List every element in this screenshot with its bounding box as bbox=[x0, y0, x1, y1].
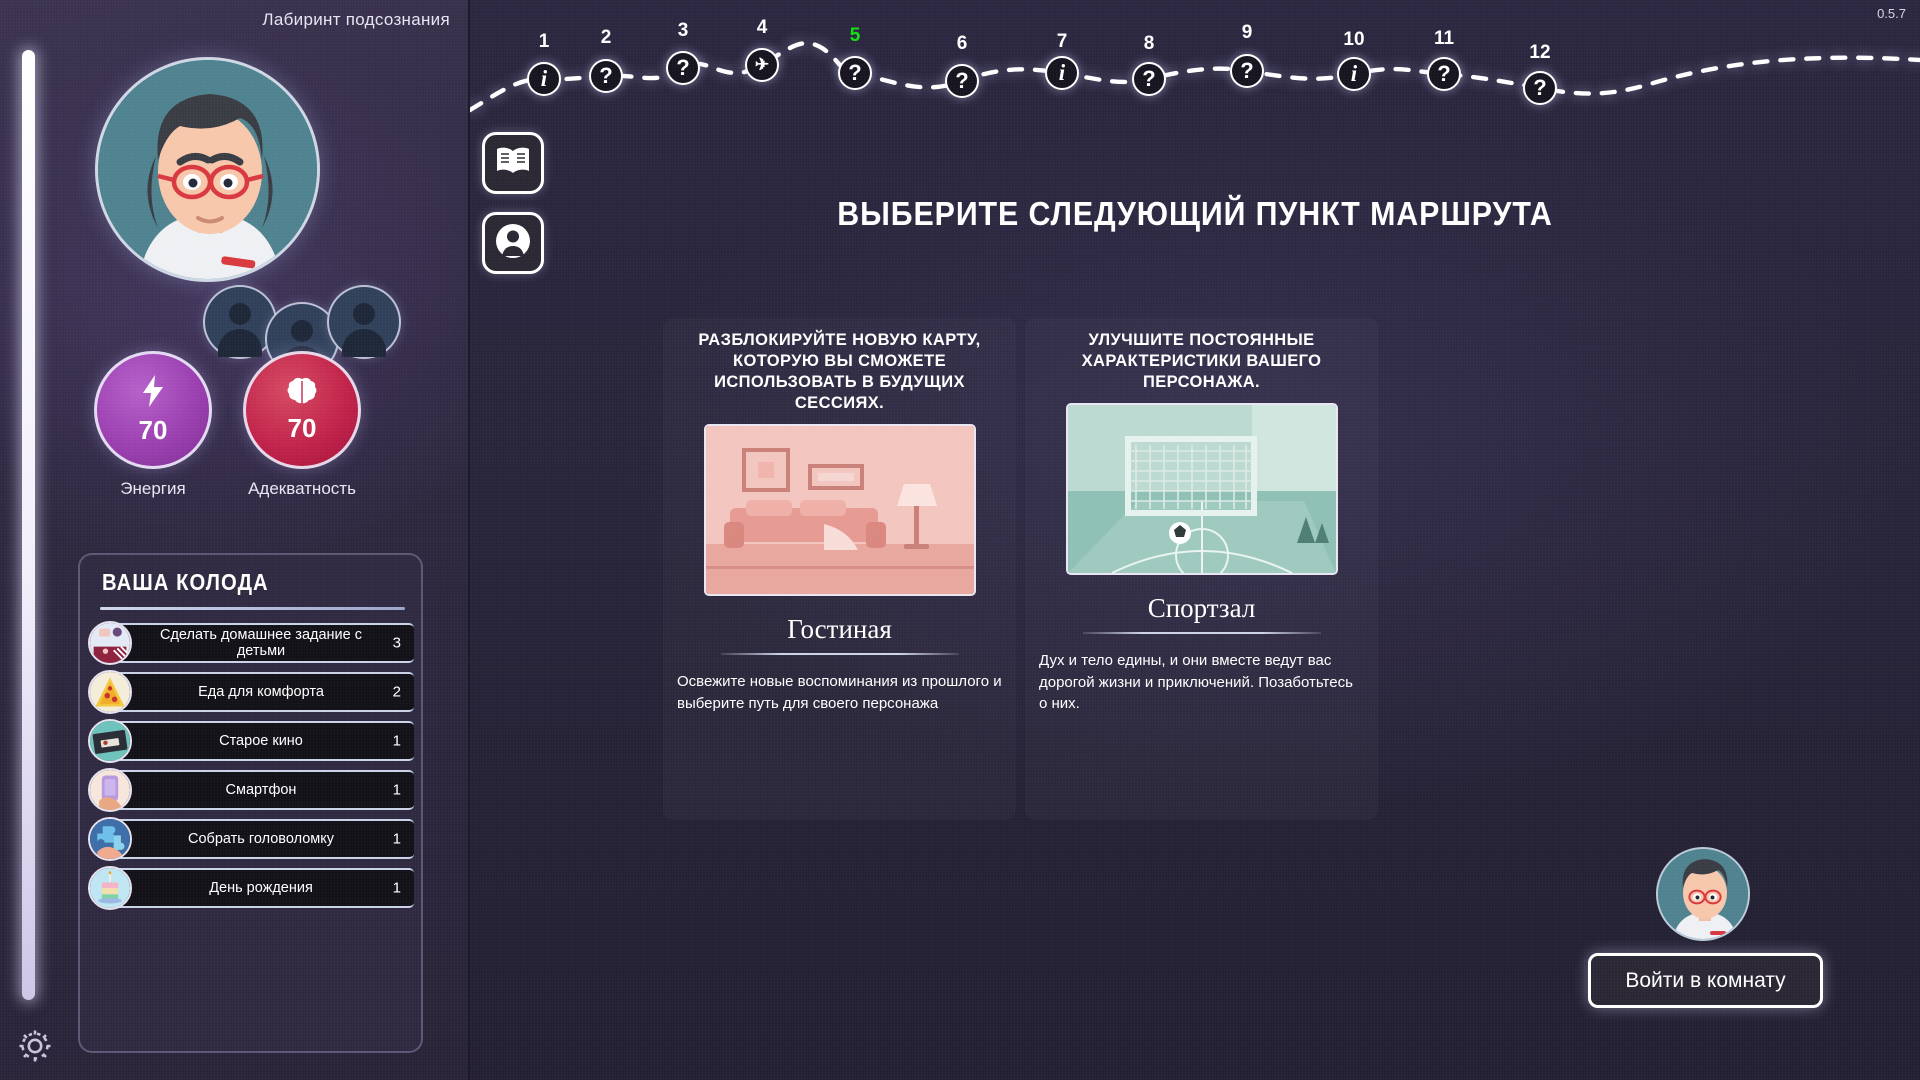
pizza-icon bbox=[88, 670, 132, 714]
enter-button-avatar bbox=[1656, 847, 1750, 941]
card-description: Освежите новые воспоминания из прошлого … bbox=[673, 671, 1006, 714]
question-icon: ? bbox=[676, 55, 689, 81]
left-sidebar: Лабиринт подсознания bbox=[0, 0, 470, 1080]
deck-card-pill[interactable]: День рождения1 bbox=[114, 868, 414, 908]
deck-card-row[interactable]: Старое кино1 bbox=[88, 721, 418, 761]
portrait-illustration bbox=[98, 60, 320, 282]
enter-room-button[interactable]: Войти в комнату bbox=[1588, 953, 1823, 1008]
stat-sanity-label: Адекватность bbox=[237, 479, 367, 499]
route-node-6[interactable]: ? bbox=[945, 64, 979, 98]
companion-head-icon bbox=[291, 320, 313, 342]
smartphone-icon bbox=[88, 768, 132, 812]
route-node-1[interactable]: i bbox=[527, 62, 561, 96]
route-node-7[interactable]: i bbox=[1045, 56, 1079, 90]
vhs-icon bbox=[88, 719, 132, 763]
route-node-5[interactable]: ? bbox=[838, 56, 872, 90]
deck-card-name: Смартфон bbox=[198, 782, 331, 798]
info-icon: i bbox=[1059, 60, 1065, 86]
route-node-3[interactable]: ? bbox=[666, 51, 700, 85]
route-node-number: 4 bbox=[757, 17, 768, 39]
deck-card-row[interactable]: Еда для комфорта2 bbox=[88, 672, 418, 712]
card-headline: УЛУЧШИТЕ ПОСТОЯННЫЕ ХАРАКТЕРИСТИКИ ВАШЕГ… bbox=[1035, 330, 1368, 393]
deck-card-count: 1 bbox=[393, 733, 401, 750]
card-name: Спортзал bbox=[1035, 593, 1368, 624]
stat-sanity[interactable]: 70 Адекватность bbox=[237, 351, 367, 499]
deck-card-row[interactable]: Сделать домашнее задание с детьми3 bbox=[88, 623, 418, 663]
route-node-number: 8 bbox=[1144, 33, 1155, 55]
companion-slot-3[interactable] bbox=[327, 285, 401, 359]
route-node-number: 2 bbox=[601, 27, 612, 49]
deck-card-row[interactable]: Смартфон1 bbox=[88, 770, 418, 810]
game-title: Лабиринт подсознания bbox=[262, 10, 450, 30]
stat-energy-orb: 70 bbox=[94, 351, 212, 469]
route-node-number: 6 bbox=[957, 33, 968, 55]
question-icon: ? bbox=[1142, 66, 1155, 92]
card-name: Гостиная bbox=[673, 614, 1006, 645]
deck-card-name: День рождения bbox=[181, 880, 347, 896]
session-progress-fill bbox=[22, 50, 35, 1000]
puzzle-icon bbox=[88, 817, 132, 861]
living-room-illustration bbox=[704, 424, 976, 596]
stat-sanity-orb: 70 bbox=[243, 351, 361, 469]
session-progress-bar bbox=[22, 50, 35, 1000]
deck-card-name: Собрать головоломку bbox=[160, 831, 368, 847]
stat-energy-value: 70 bbox=[139, 415, 168, 446]
lightning-icon bbox=[140, 375, 166, 413]
character-portrait-image bbox=[95, 57, 320, 282]
deck-card-pill[interactable]: Собрать головоломку1 bbox=[114, 819, 414, 859]
card-divider bbox=[721, 653, 959, 655]
page-title: ВЫБЕРИТЕ СЛЕДУЮЩИЙ ПУНКТ МАРШРУТА bbox=[528, 195, 1862, 233]
stat-sanity-value: 70 bbox=[288, 413, 317, 444]
route-node-4[interactable]: ✈ bbox=[745, 48, 779, 82]
book-icon bbox=[495, 146, 531, 181]
deck-card-pill[interactable]: Старое кино1 bbox=[114, 721, 414, 761]
route-node-10[interactable]: i bbox=[1337, 57, 1371, 91]
question-icon: ? bbox=[1533, 75, 1546, 101]
route-node-12[interactable]: ? bbox=[1523, 71, 1557, 105]
route-node-8[interactable]: ? bbox=[1132, 62, 1166, 96]
deck-list: Сделать домашнее задание с детьми3Еда дл… bbox=[88, 623, 418, 917]
deck-card-name: Сделать домашнее задание с детьми bbox=[114, 627, 414, 659]
deck-panel: ВАША КОЛОДА Сделать домашнее задание с д… bbox=[78, 553, 423, 1053]
deck-card-row[interactable]: Собрать головоломку1 bbox=[88, 819, 418, 859]
route-node-9[interactable]: ? bbox=[1230, 54, 1264, 88]
route-node-11[interactable]: ? bbox=[1427, 57, 1461, 91]
paper-plane-icon: ✈ bbox=[755, 55, 769, 75]
cake-icon bbox=[88, 866, 132, 910]
card-headline: РАЗБЛОКИРУЙТЕ НОВУЮ КАРТУ, КОТОРУЮ ВЫ СМ… bbox=[673, 330, 1006, 414]
deck-card-row[interactable]: День рождения1 bbox=[88, 868, 418, 908]
main-area: 0.5.7 1i2?3?4✈5?6?7i8?9?10i11?12? bbox=[470, 0, 1920, 1080]
avatar[interactable] bbox=[95, 57, 320, 282]
route-node-number: 12 bbox=[1529, 42, 1550, 64]
deck-card-count: 2 bbox=[393, 684, 401, 701]
gym-illustration bbox=[1066, 403, 1338, 575]
route-node-2[interactable]: ? bbox=[589, 59, 623, 93]
card-description: Дух и тело едины, и они вместе ведут вас… bbox=[1035, 650, 1368, 714]
question-icon: ? bbox=[1240, 58, 1253, 84]
route-node-number: 5 bbox=[850, 25, 861, 47]
companion-head-icon bbox=[353, 303, 375, 325]
choice-card-gym[interactable]: УЛУЧШИТЕ ПОСТОЯННЫЕ ХАРАКТЕРИСТИКИ ВАШЕГ… bbox=[1035, 330, 1368, 800]
route-node-number: 1 bbox=[539, 31, 550, 53]
person-icon bbox=[495, 223, 531, 264]
brain-icon bbox=[287, 377, 317, 411]
question-icon: ? bbox=[599, 63, 612, 89]
question-icon: ? bbox=[955, 68, 968, 94]
route-node-number: 9 bbox=[1242, 22, 1253, 44]
route-node-number: 7 bbox=[1057, 31, 1068, 53]
gear-icon[interactable] bbox=[15, 1026, 55, 1066]
companion-head-icon bbox=[229, 303, 251, 325]
info-icon: i bbox=[1351, 61, 1357, 87]
deck-card-pill[interactable]: Сделать домашнее задание с детьми3 bbox=[114, 623, 414, 663]
deck-card-name: Еда для комфорта bbox=[170, 684, 358, 700]
route-node-number: 11 bbox=[1434, 28, 1454, 50]
choice-card-living-room[interactable]: РАЗБЛОКИРУЙТЕ НОВУЮ КАРТУ, КОТОРУЮ ВЫ СМ… bbox=[673, 330, 1006, 800]
deck-card-pill[interactable]: Еда для комфорта2 bbox=[114, 672, 414, 712]
deck-divider bbox=[100, 607, 405, 610]
question-icon: ? bbox=[848, 60, 861, 86]
stat-energy[interactable]: 70 Энергия bbox=[88, 351, 218, 499]
journal-button[interactable] bbox=[482, 132, 544, 194]
deck-card-count: 3 bbox=[393, 635, 401, 652]
info-icon: i bbox=[541, 66, 547, 92]
deck-card-count: 1 bbox=[393, 880, 401, 897]
deck-card-count: 1 bbox=[393, 782, 401, 799]
route-node-number: 3 bbox=[678, 20, 689, 42]
homework-icon bbox=[88, 621, 132, 665]
stat-energy-label: Энергия bbox=[88, 479, 218, 499]
route-map: 1i2?3?4✈5?6?7i8?9?10i11?12? bbox=[470, 0, 1920, 140]
question-icon: ? bbox=[1437, 61, 1450, 87]
deck-card-name: Старое кино bbox=[191, 733, 337, 749]
route-node-number: 10 bbox=[1343, 29, 1364, 51]
deck-title: ВАША КОЛОДА bbox=[102, 569, 269, 596]
card-divider bbox=[1083, 632, 1321, 634]
deck-card-pill[interactable]: Смартфон1 bbox=[114, 770, 414, 810]
deck-card-count: 1 bbox=[393, 831, 401, 848]
